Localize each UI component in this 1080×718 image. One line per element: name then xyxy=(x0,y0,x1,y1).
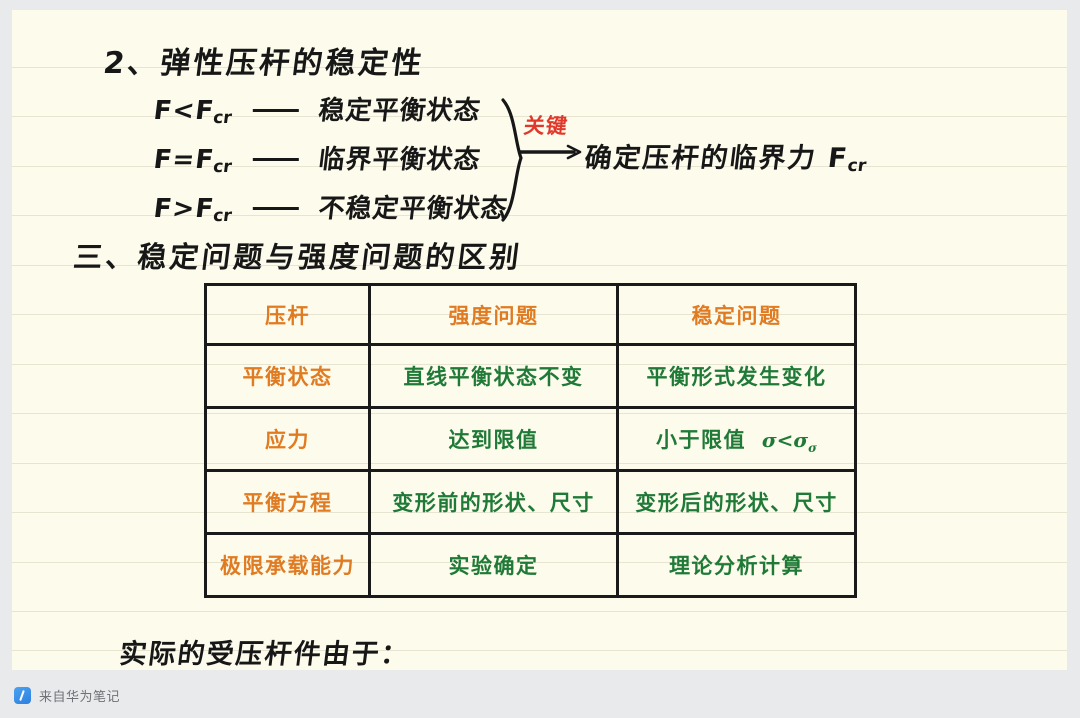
equation-row-1: F<Fcr 稳定平衡状态 xyxy=(152,90,484,128)
conclusion-prefix: 确定压杆的 xyxy=(583,143,732,174)
table-row: 应力 达到限值 小于限值 σ<σσ xyxy=(206,408,856,471)
table-header-cell-0: 压杆 xyxy=(206,285,370,345)
equation-1-desc: 稳定平衡状态 xyxy=(317,96,483,126)
table-cell-stability-3: 理论分析计算 xyxy=(618,534,856,597)
table-header-cell-2: 稳定问题 xyxy=(618,285,856,345)
notebook-page: 2、弹性压杆的稳定性 F<Fcr 稳定平衡状态 F=Fcr 临界平衡状态 F>F… xyxy=(12,10,1067,670)
key-annotation-label: 关键 xyxy=(522,110,570,140)
table-cell-key-3: 极限承载能力 xyxy=(206,534,370,597)
table-cell-key-2: 平衡方程 xyxy=(206,471,370,534)
table-cell-strength-0: 直线平衡状态不变 xyxy=(370,345,618,408)
watermark: 来自华为笔记 xyxy=(14,686,120,705)
section-2-heading: 2、弹性压杆的稳定性 xyxy=(101,38,427,82)
table-cell-key-1: 应力 xyxy=(206,408,370,471)
equation-1-lhs: F<Fcr xyxy=(152,96,234,126)
table-cell-strength-3: 实验确定 xyxy=(370,534,618,597)
section-3-heading: 三、稳定问题与强度问题的区别 xyxy=(71,234,524,276)
equation-2-lhs: F=Fcr xyxy=(152,145,234,175)
equation-3-lhs: F>Fcr xyxy=(152,194,234,224)
table-cell-stability-2: 变形后的形状、尺寸 xyxy=(618,471,856,534)
table-header-cell-1: 强度问题 xyxy=(370,285,618,345)
conclusion-line: 确定压杆的临界力 Fcr xyxy=(583,136,870,176)
arrow-icon xyxy=(518,144,586,160)
equation-3-desc: 不稳定平衡状态 xyxy=(317,194,510,224)
equation-row-2: F=Fcr 临界平衡状态 xyxy=(152,139,484,177)
table-cell-strength-2: 变形前的形状、尺寸 xyxy=(370,471,618,534)
conclusion-critical-force: 临界力 Fcr xyxy=(728,143,869,174)
table-row: 极限承载能力 实验确定 理论分析计算 xyxy=(206,534,856,597)
equation-1-dash xyxy=(253,109,299,112)
ruled-line-11 xyxy=(12,611,1067,612)
watermark-label: 来自华为笔记 xyxy=(39,686,120,705)
bottom-note-line: 实际的受压杆件由于： xyxy=(118,632,413,670)
equation-2-dash xyxy=(253,158,299,161)
table-cell-stability-1: 小于限值 σ<σσ xyxy=(618,408,856,471)
stress-inequality-formula: σ<σσ xyxy=(755,428,817,452)
table-row: 平衡状态 直线平衡状态不变 平衡形式发生变化 xyxy=(206,345,856,408)
comparison-table: 压杆 强度问题 稳定问题 平衡状态 直线平衡状态不变 平衡形式发生变化 应力 达… xyxy=(204,283,857,598)
table-cell-stability-1-text: 小于限值 xyxy=(656,427,746,452)
table-header-row: 压杆 强度问题 稳定问题 xyxy=(206,285,856,345)
table-row: 平衡方程 变形前的形状、尺寸 变形后的形状、尺寸 xyxy=(206,471,856,534)
curly-brace xyxy=(499,98,525,222)
equation-2-desc: 临界平衡状态 xyxy=(317,145,483,175)
table-cell-stability-0: 平衡形式发生变化 xyxy=(618,345,856,408)
table-cell-strength-1: 达到限值 xyxy=(370,408,618,471)
table-cell-key-0: 平衡状态 xyxy=(206,345,370,408)
huawei-notes-icon xyxy=(14,687,31,704)
equation-3-dash xyxy=(253,207,299,210)
equation-row-3: F>Fcr 不稳定平衡状态 xyxy=(152,188,511,226)
